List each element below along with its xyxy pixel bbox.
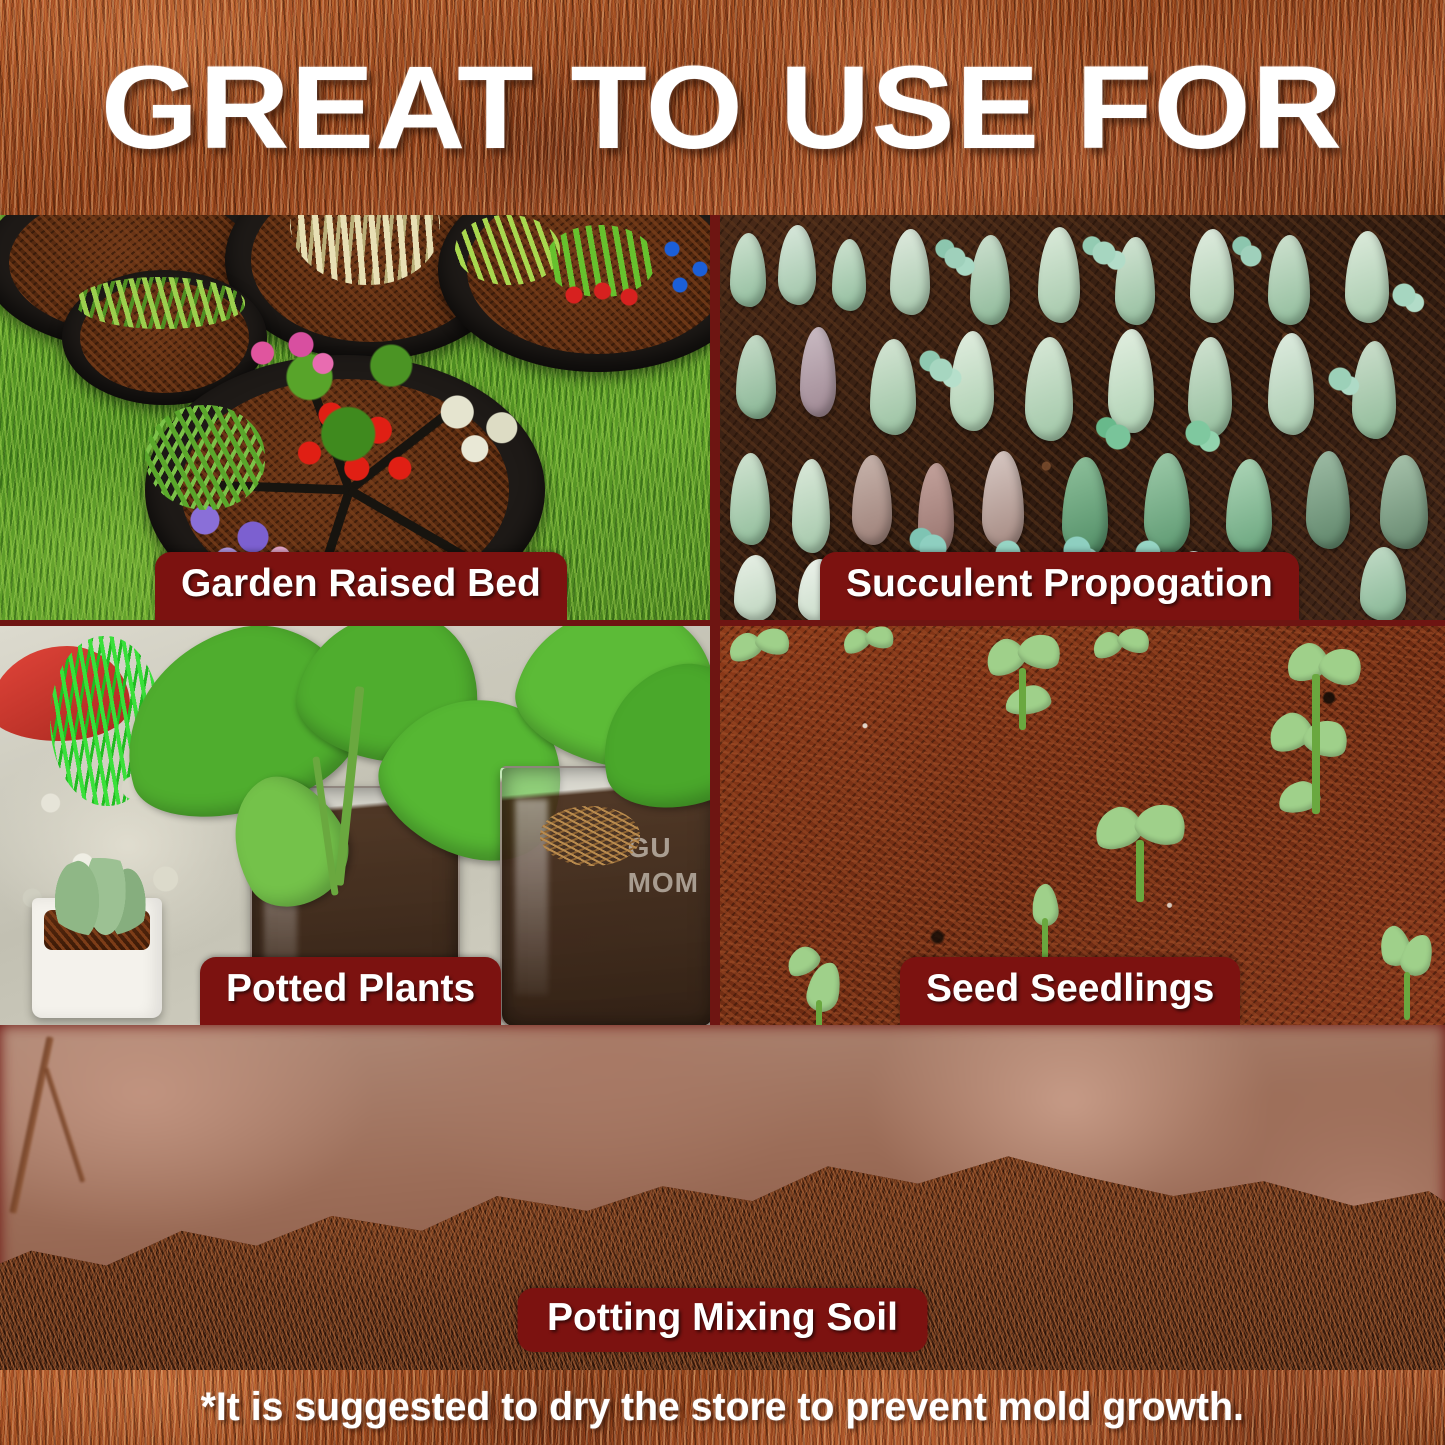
succulent-leaf (1268, 333, 1314, 435)
seedling (1380, 926, 1440, 1025)
herb-foliage (145, 405, 265, 510)
grid-divider-vertical (710, 215, 720, 620)
tile-label-potted-plants: Potted Plants (200, 957, 501, 1025)
succulent-rosette (1172, 407, 1224, 459)
grid-divider-vertical (710, 626, 720, 1025)
succulent-leaf (1306, 451, 1350, 549)
seedling (1268, 644, 1378, 834)
succulent-leaf (832, 239, 866, 311)
seedling (842, 626, 902, 676)
succulent-leaf (734, 555, 776, 620)
tile-label-potting-mixing-soil: Potting Mixing Soil (517, 1288, 928, 1352)
tile-label-succulent-propogation: Succulent Propogation (820, 552, 1299, 620)
haworthia-succulent (44, 858, 154, 936)
succulent-rosette (1092, 411, 1144, 463)
tile-garden-raised-bed[interactable]: Garden Raised Bed (0, 215, 710, 620)
header-banner: GREAT TO USE FOR (0, 0, 1445, 215)
succulent-leaf (1190, 229, 1234, 323)
plant-foliage (555, 275, 650, 315)
seedling (1092, 628, 1158, 686)
succulent-leaf (1380, 455, 1428, 549)
tile-label-seed-seedlings: Seed Seedlings (900, 957, 1240, 1025)
seedling (985, 634, 1081, 744)
succulent-leaf (730, 453, 770, 545)
succulent-leaf (890, 229, 930, 315)
seedling (1026, 884, 1072, 964)
succulent-rosette (1080, 229, 1128, 277)
succulent-leaf (1360, 547, 1406, 620)
footer-banner: *It is suggested to dry the store to pre… (0, 1370, 1445, 1445)
page-title: GREAT TO USE FOR (101, 49, 1343, 167)
root-ball (540, 806, 640, 866)
tile-potted-plants[interactable]: GUMOM Potted Plants (0, 626, 710, 1025)
succulent-leaf (1038, 227, 1080, 323)
succulent-leaf (778, 225, 816, 305)
succulent-leaf (870, 339, 916, 435)
succulent-rosette (1380, 271, 1428, 319)
plant-foliage (75, 277, 245, 329)
succulent-leaf (736, 335, 776, 419)
tile-succulent-propogation[interactable]: Succulent Propogation (720, 215, 1445, 620)
tile-label-garden-raised-bed: Garden Raised Bed (155, 552, 567, 620)
succulent-rosette (932, 235, 978, 281)
succulent-leaf (1268, 235, 1310, 325)
succulent-leaf (800, 327, 836, 417)
succulent-leaf (1025, 337, 1073, 441)
seedling (786, 948, 856, 1025)
tile-potting-mixing-soil[interactable]: Potting Mixing Soil (0, 1025, 1445, 1370)
succulent-leaf (792, 459, 830, 553)
footer-note: *It is suggested to dry the store to pre… (201, 1385, 1244, 1430)
succulent-leaf (1345, 231, 1389, 323)
succulent-rosette (1228, 233, 1274, 279)
tile-seed-seedlings[interactable]: Seed Seedlings (720, 626, 1445, 1025)
pink-flowers (235, 325, 345, 395)
seedling (1094, 804, 1204, 914)
cauliflower-plant (410, 370, 545, 475)
infographic-poster: GREAT TO USE FOR (0, 0, 1445, 1445)
seedling (728, 628, 798, 688)
succulent-rosette (916, 345, 966, 395)
plant-foliage (455, 215, 560, 285)
succulent-leaf (852, 455, 892, 545)
succulent-rosette (1316, 355, 1364, 403)
succulent-leaf (1226, 459, 1272, 555)
succulent-leaf (730, 233, 766, 307)
feature-grid: Garden Raised Bed (0, 215, 1445, 1025)
